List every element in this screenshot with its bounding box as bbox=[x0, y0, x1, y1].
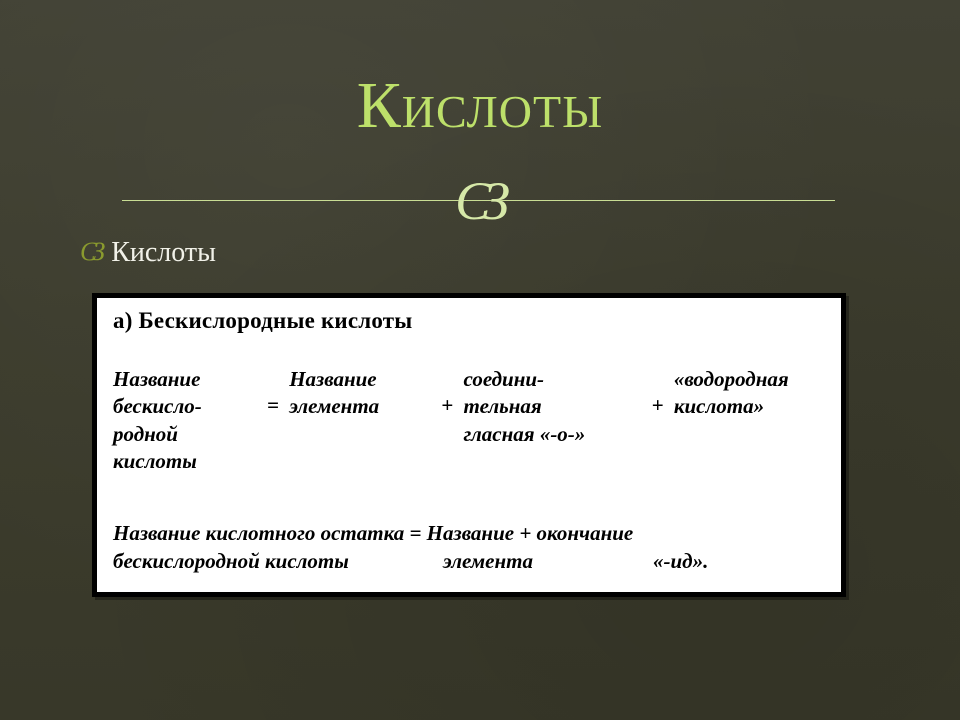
naming-rule: Название кислотного остатка = Название +… bbox=[113, 520, 835, 576]
decorative-divider: ϹЗ bbox=[122, 190, 835, 212]
bullet-list-item: ϹЗ Кислоты bbox=[80, 239, 216, 267]
page-title: Кислоты bbox=[0, 72, 960, 139]
naming-rule-line-1: Название кислотного остатка = Название +… bbox=[113, 520, 835, 548]
bullet-item-label: Кислоты bbox=[111, 239, 216, 267]
naming-rule-acid-part: бескислородной кислоты bbox=[113, 548, 443, 576]
formula-operator-plus-1: + bbox=[431, 366, 463, 419]
formula-term-element: Название элемента bbox=[289, 366, 431, 421]
naming-rule-line-2: бескислородной кислоты элемента «-ид». bbox=[113, 548, 835, 576]
figure-inner: а) Бескислородные кислоты Название бески… bbox=[97, 298, 841, 592]
figure-heading: а) Бескислородные кислоты bbox=[113, 308, 412, 334]
formula-operator-plus-2: + bbox=[642, 366, 674, 419]
bullet-ornament-icon: ϹЗ bbox=[80, 239, 100, 265]
formula-term-left: Название бескисло- родной кислоты bbox=[113, 366, 257, 475]
formula-term-hydrogen-acid: «водородная кислота» bbox=[674, 366, 833, 421]
formula-operator-equals: = bbox=[257, 366, 289, 419]
naming-rule-element-part: элемента bbox=[443, 548, 653, 576]
content-figure-box: а) Бескислородные кислоты Название бески… bbox=[92, 293, 846, 597]
flourish-ornament-icon: ϹЗ bbox=[455, 174, 502, 228]
naming-rule-suffix-part: «-ид». bbox=[653, 548, 773, 576]
formula-equation: Название бескисло- родной кислоты = Назв… bbox=[113, 366, 833, 475]
formula-term-vowel: соедини- тельная гласная «-о-» bbox=[464, 366, 642, 448]
